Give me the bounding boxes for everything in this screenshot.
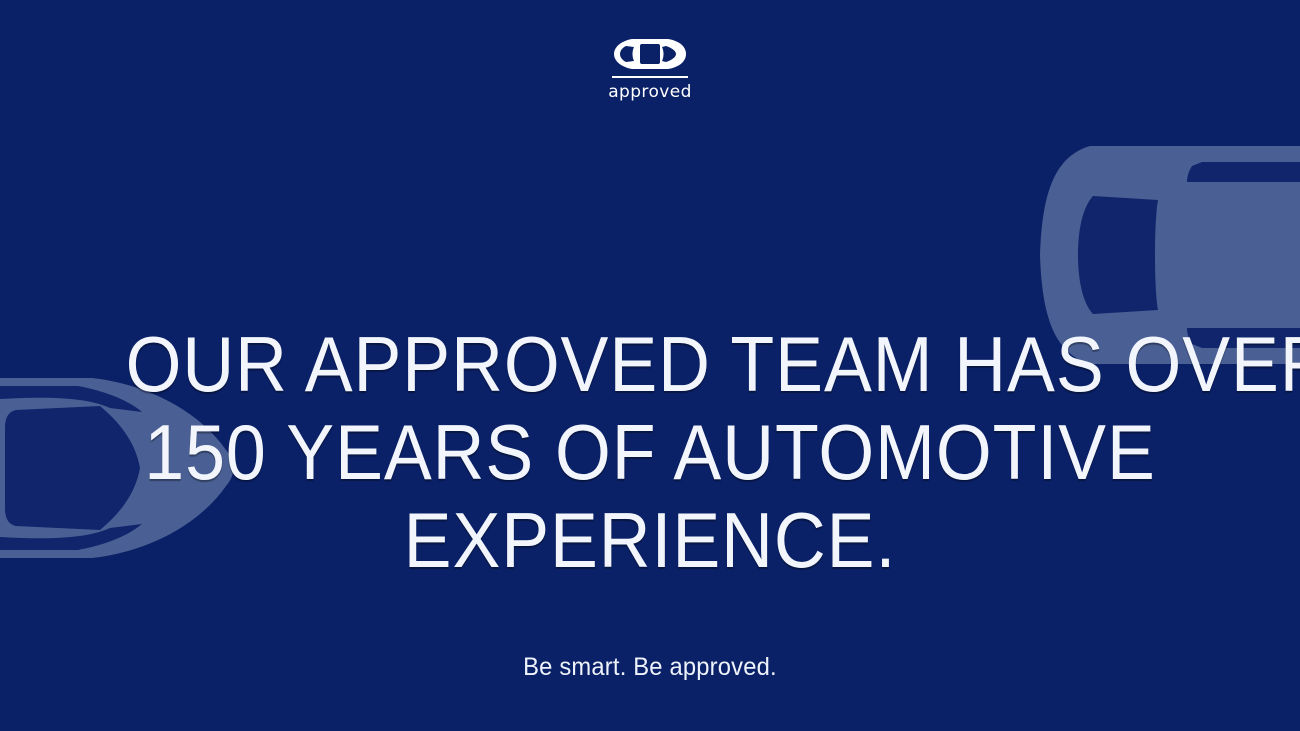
page-title: OUR APPROVED TEAM HAS OVER 150 YEARS OF … <box>52 320 1248 584</box>
headline-line-2: 150 YEARS OF AUTOMOTIVE <box>126 408 1175 496</box>
headline-line-3: EXPERIENCE. <box>126 496 1175 584</box>
headline-line-1: OUR APPROVED TEAM HAS OVER <box>126 320 1175 408</box>
logo-wordmark: approved <box>608 84 692 101</box>
car-top-view-icon <box>612 38 688 70</box>
tagline: Be smart. Be approved. <box>33 652 1268 682</box>
slide-canvas: approved OUR APPROVED TEAM HAS OVER 150 … <box>0 0 1300 731</box>
brand-logo: approved <box>0 38 1300 101</box>
logo-divider <box>612 76 688 78</box>
